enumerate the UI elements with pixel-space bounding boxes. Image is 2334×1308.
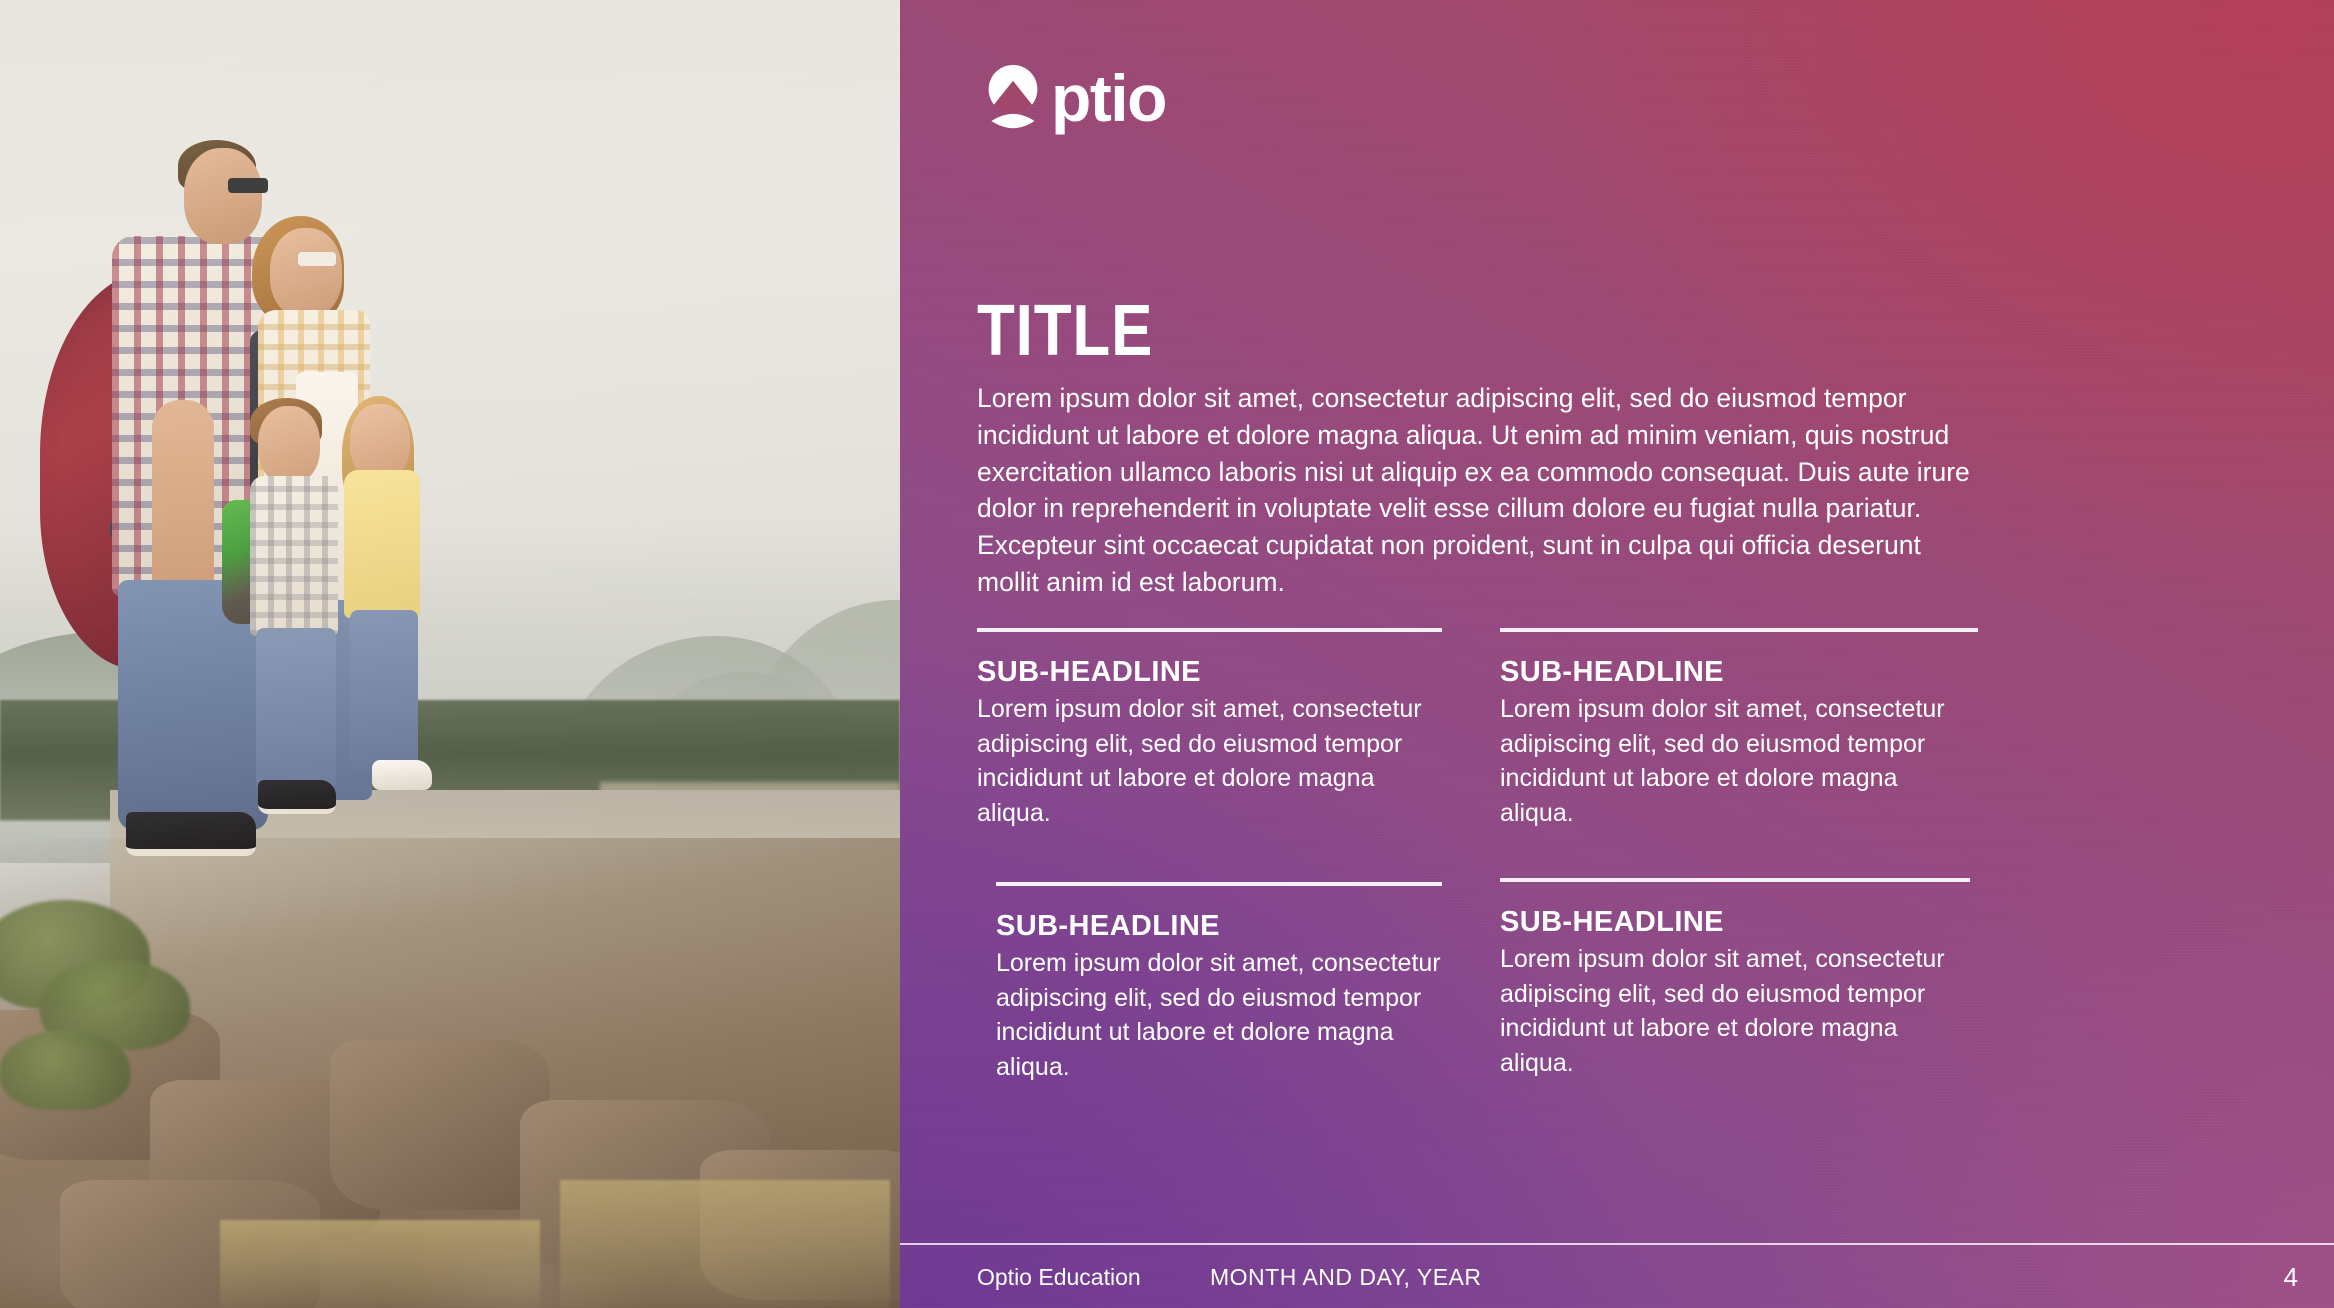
man-head	[184, 148, 262, 244]
section-body: Lorem ipsum dolor sit amet, consectetur …	[1500, 692, 1960, 830]
page-number: 4	[2284, 1262, 2298, 1293]
girl-yellow-shirt	[344, 470, 420, 618]
dry-grass	[560, 1180, 890, 1308]
section-divider	[1500, 878, 1970, 882]
section-divider	[977, 628, 1442, 632]
boy-plaid-shirt	[250, 476, 338, 636]
boy-denim-shorts	[256, 628, 336, 790]
foliage-patch	[0, 1030, 130, 1110]
section-block-2: SUB-HEADLINE Lorem ipsum dolor sit amet,…	[1500, 628, 1980, 830]
man-sneaker	[126, 812, 256, 856]
section-divider	[1500, 628, 1978, 632]
section-block-4: SUB-HEADLINE Lorem ipsum dolor sit amet,…	[1500, 878, 1980, 1080]
rock-boulder	[330, 1040, 550, 1210]
woman-sunglasses	[298, 252, 336, 266]
section-heading: SUB-HEADLINE	[1500, 906, 1980, 939]
footer-divider	[900, 1243, 2334, 1245]
boy-sneaker	[258, 780, 336, 814]
girl-sneaker	[372, 760, 432, 790]
optio-mountain-logo-icon	[977, 62, 1049, 134]
section-body: Lorem ipsum dolor sit amet, consectetur …	[996, 946, 1456, 1084]
dry-grass	[220, 1220, 540, 1308]
section-heading: SUB-HEADLINE	[996, 910, 1456, 943]
logo-wordmark: ptio	[1051, 65, 1166, 131]
footer-date: MONTH AND DAY, YEAR	[1210, 1264, 1482, 1291]
brand-logo[interactable]: ptio	[977, 62, 1166, 134]
section-block-3: SUB-HEADLINE Lorem ipsum dolor sit amet,…	[996, 882, 1456, 1084]
woman-head	[270, 228, 342, 318]
footer-brand: Optio Education	[977, 1264, 1141, 1291]
boy-head	[258, 406, 320, 484]
section-divider	[996, 882, 1442, 886]
girl-head	[350, 404, 410, 480]
section-heading: SUB-HEADLINE	[1500, 656, 1980, 689]
body-paragraph: Lorem ipsum dolor sit amet, consectetur …	[977, 380, 1977, 601]
page-title: TITLE	[977, 295, 1153, 367]
presentation-slide: ptio TITLE Lorem ipsum dolor sit amet, c…	[0, 0, 2334, 1308]
section-body: Lorem ipsum dolor sit amet, consectetur …	[977, 692, 1437, 830]
hero-photograph	[0, 0, 900, 1308]
girl-denim-shorts	[350, 610, 418, 770]
section-body: Lorem ipsum dolor sit amet, consectetur …	[1500, 942, 1960, 1080]
man-sunglasses	[228, 178, 268, 193]
